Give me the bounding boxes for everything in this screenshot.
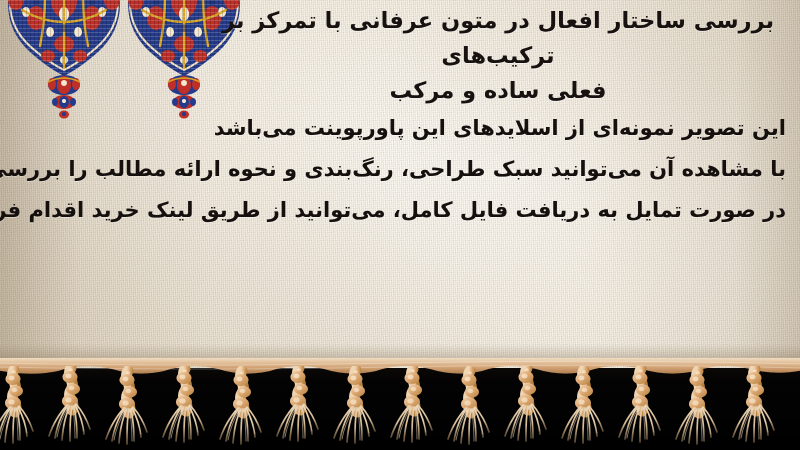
slide-title: بررسی ساختار افعال در متون عرفانی با تمر… (218, 4, 778, 109)
slide-title-line-2: فعلی ساده و مرکب (218, 74, 778, 109)
slide-title-line-1: بررسی ساختار افعال در متون عرفانی با تمر… (218, 4, 778, 74)
body-line-2: با مشاهده آن می‌توانید سبک طراحی، رنگ‌بن… (8, 149, 786, 190)
presentation-slide: بررسی ساختار افعال در متون عرفانی با تمر… (0, 0, 800, 450)
body-line-1: این تصویر نمونه‌ای از اسلایدهای این پاور… (8, 108, 786, 149)
body-line-3: در صورت تمایل به دریافت فایل کامل، می‌تو… (8, 190, 786, 231)
carpet-fringe (0, 358, 800, 450)
slide-body: این تصویر نمونه‌ای از اسلایدهای این پاور… (8, 108, 792, 231)
fringe-tassels (0, 366, 800, 450)
